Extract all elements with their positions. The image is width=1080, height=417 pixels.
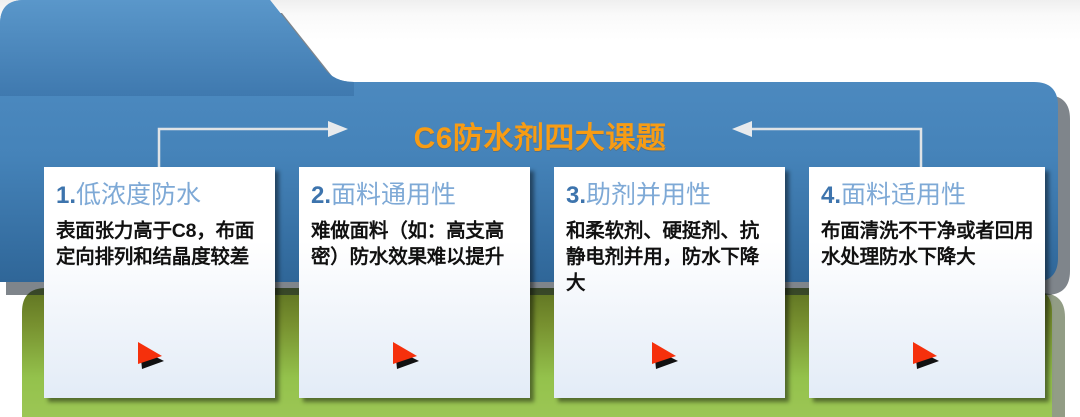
topic-card-1-number: 1.: [56, 182, 76, 209]
topic-card-4-number: 4.: [821, 182, 841, 209]
topic-card-1-body: 表面张力高于C8，布面定向排列和结晶度较差: [56, 218, 265, 270]
topic-card-3-heading-text: 助剂并用性: [586, 182, 711, 209]
topic-card-4-body: 布面清洗不干净或者回用水处理防水下降大: [821, 218, 1035, 270]
play-triangle-icon-2[interactable]: [389, 339, 423, 371]
topic-card-2-heading-text: 面料通用性: [331, 182, 456, 209]
page-title-rest: 防水剂四大课题: [453, 122, 667, 155]
topic-card-2-number: 2.: [311, 182, 331, 209]
topic-card-4-heading-text: 面料适用性: [841, 182, 966, 209]
play-triangle-icon-3[interactable]: [648, 339, 682, 371]
topic-card-2-body: 难做面料（如：高支高密）防水效果难以提升: [311, 218, 520, 270]
play-triangle-icon-4[interactable]: [909, 339, 943, 371]
topic-card-1-heading: 1.低浓度防水: [56, 181, 265, 211]
topic-card-3-number: 3.: [566, 182, 586, 209]
topic-card-3-heading: 3.助剂并用性: [566, 181, 775, 211]
play-triangle-icon-1[interactable]: [134, 339, 168, 371]
page-title-lead: C6: [414, 122, 453, 155]
topic-card-4-heading: 4.面料适用性: [821, 181, 1035, 211]
topic-card-3-body: 和柔软剂、硬挺剂、抗静电剂并用，防水下降大: [566, 218, 775, 296]
topic-card-1-heading-text: 低浓度防水: [76, 182, 201, 209]
page-title: C6防水剂四大课题: [0, 113, 1080, 157]
slide-canvas: C6防水剂四大课题 1.低浓度防水 表面张力高于C8，布面定向排列和结晶度较差 …: [0, 0, 1080, 417]
topic-card-2-heading: 2.面料通用性: [311, 181, 520, 211]
